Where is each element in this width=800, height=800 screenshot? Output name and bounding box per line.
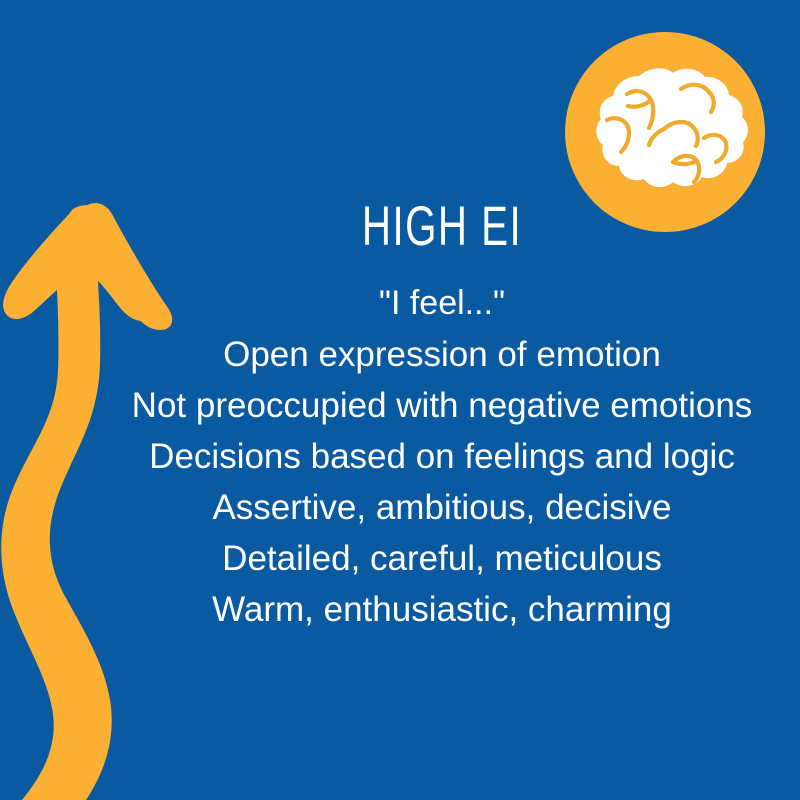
list-item: Open expression of emotion xyxy=(92,329,792,380)
list-item: "I feel..." xyxy=(92,278,792,329)
list-item: Not preoccupied with negative emotions xyxy=(92,380,792,431)
infographic-poster: HIGH EI "I feel..." Open expression of e… xyxy=(0,0,800,800)
page-title: HIGH EI xyxy=(190,196,694,256)
list-item: Decisions based on feelings and logic xyxy=(92,431,792,482)
list-item: Assertive, ambitious, decisive xyxy=(92,482,792,533)
content-column: HIGH EI "I feel..." Open expression of e… xyxy=(92,196,792,635)
trait-list: "I feel..." Open expression of emotion N… xyxy=(92,278,792,635)
list-item: Detailed, careful, meticulous xyxy=(92,533,792,584)
list-item: Warm, enthusiastic, charming xyxy=(92,584,792,635)
